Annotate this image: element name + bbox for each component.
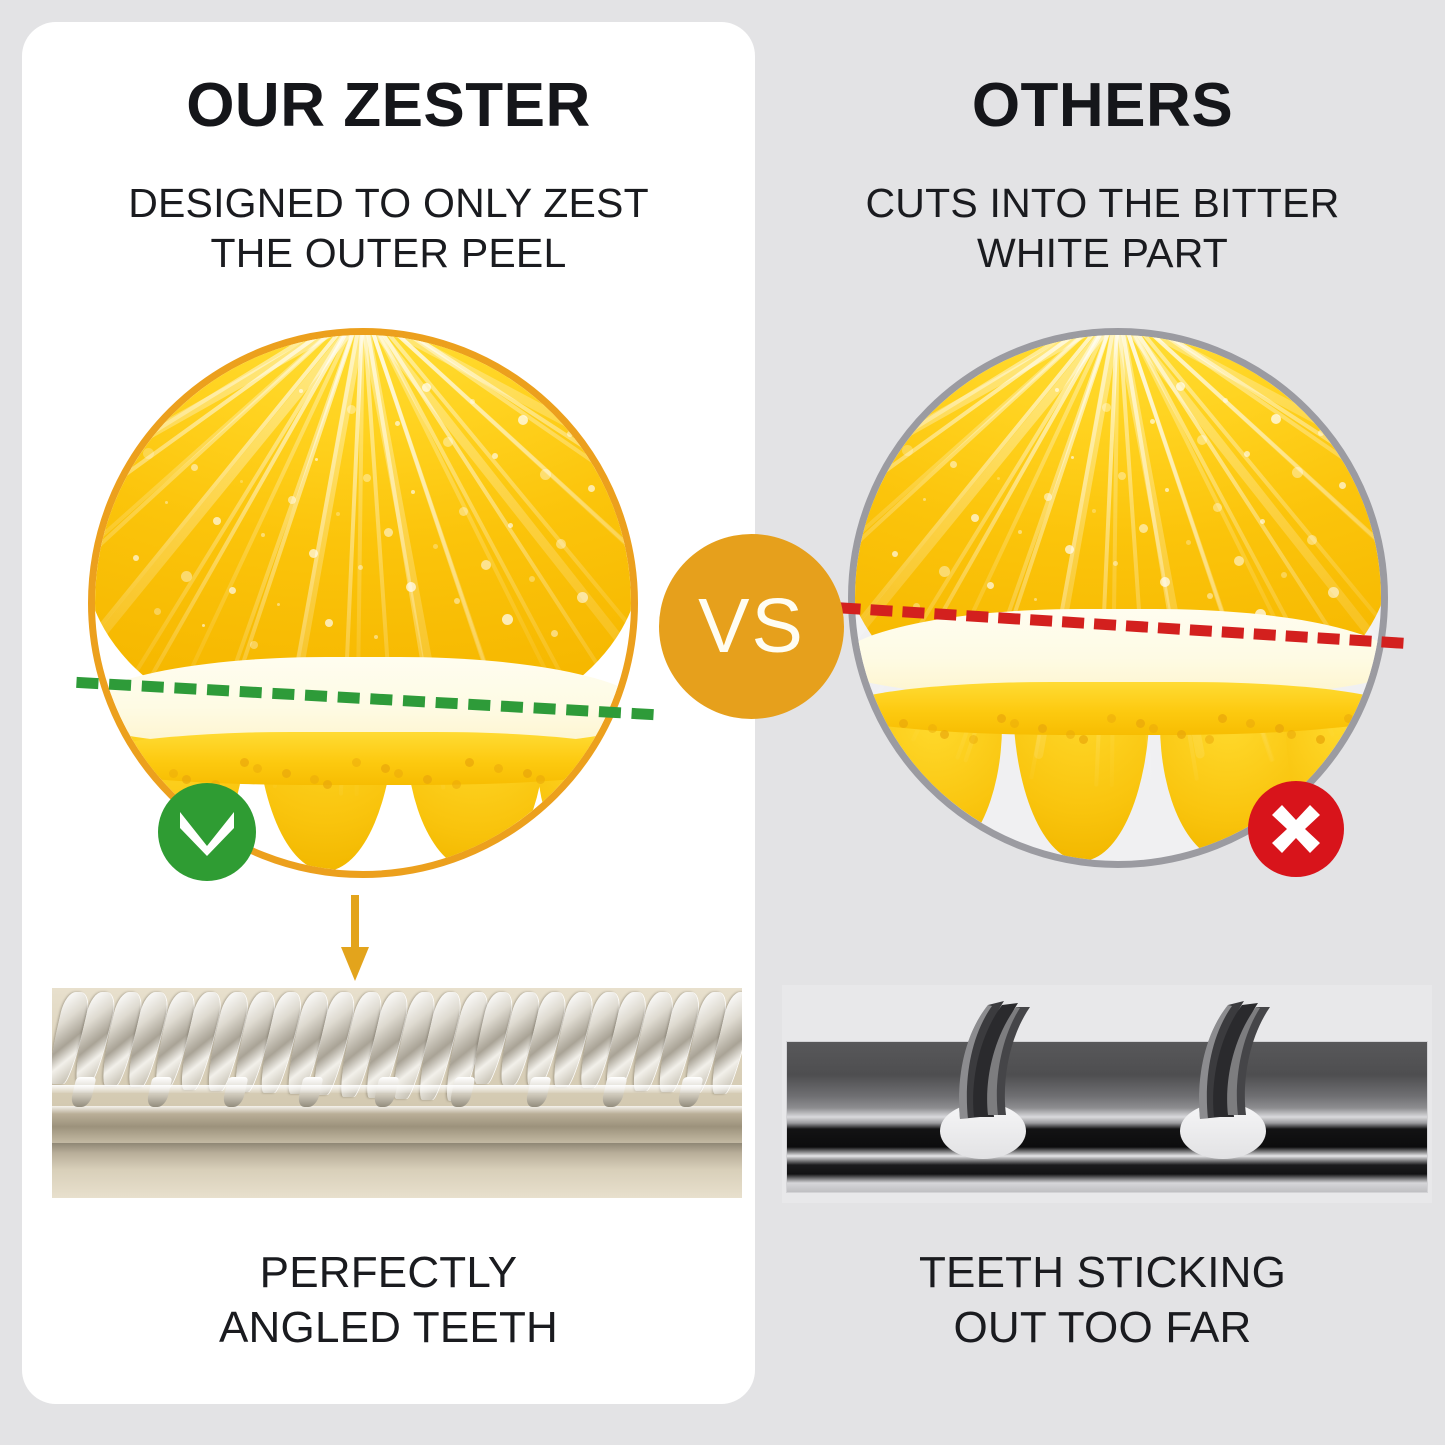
left-caption-line2: ANGLED TEETH xyxy=(22,1300,755,1355)
check-badge xyxy=(158,783,256,881)
check-icon xyxy=(176,806,238,858)
left-caption-line1: PERFECTLY xyxy=(22,1245,755,1300)
cross-icon xyxy=(1268,801,1324,857)
left-lemon-clip xyxy=(95,335,631,871)
x-badge xyxy=(1248,781,1344,877)
down-arrow-icon xyxy=(341,895,369,983)
left-product-photo xyxy=(52,988,742,1198)
left-headline: OUR ZESTER xyxy=(22,70,755,141)
right-subhead: CUTS INTO THE BITTER WHITE PART xyxy=(760,178,1445,278)
comparison-infographic: OUR ZESTER DESIGNED TO ONLY ZEST THE OUT… xyxy=(0,0,1445,1445)
protruding-tooth xyxy=(926,991,1056,1131)
left-subhead: DESIGNED TO ONLY ZEST THE OUTER PEEL xyxy=(22,178,755,278)
right-subhead-line1: CUTS INTO THE BITTER xyxy=(760,178,1445,228)
left-caption: PERFECTLY ANGLED TEETH xyxy=(22,1245,755,1355)
right-subhead-line2: WHITE PART xyxy=(760,228,1445,278)
left-lemon-diagram xyxy=(88,328,638,878)
right-caption-line2: OUT TOO FAR xyxy=(760,1300,1445,1355)
right-headline: OTHERS xyxy=(760,70,1445,141)
protruding-tooth xyxy=(1166,991,1296,1131)
left-subhead-line2: THE OUTER PEEL xyxy=(22,228,755,278)
lemon-juice-streaks xyxy=(95,335,631,871)
right-caption: TEETH STICKING OUT TOO FAR xyxy=(760,1245,1445,1355)
right-caption-line1: TEETH STICKING xyxy=(760,1245,1445,1300)
vs-badge: VS xyxy=(659,534,844,719)
right-product-photo xyxy=(782,985,1432,1203)
left-subhead-line1: DESIGNED TO ONLY ZEST xyxy=(22,178,755,228)
